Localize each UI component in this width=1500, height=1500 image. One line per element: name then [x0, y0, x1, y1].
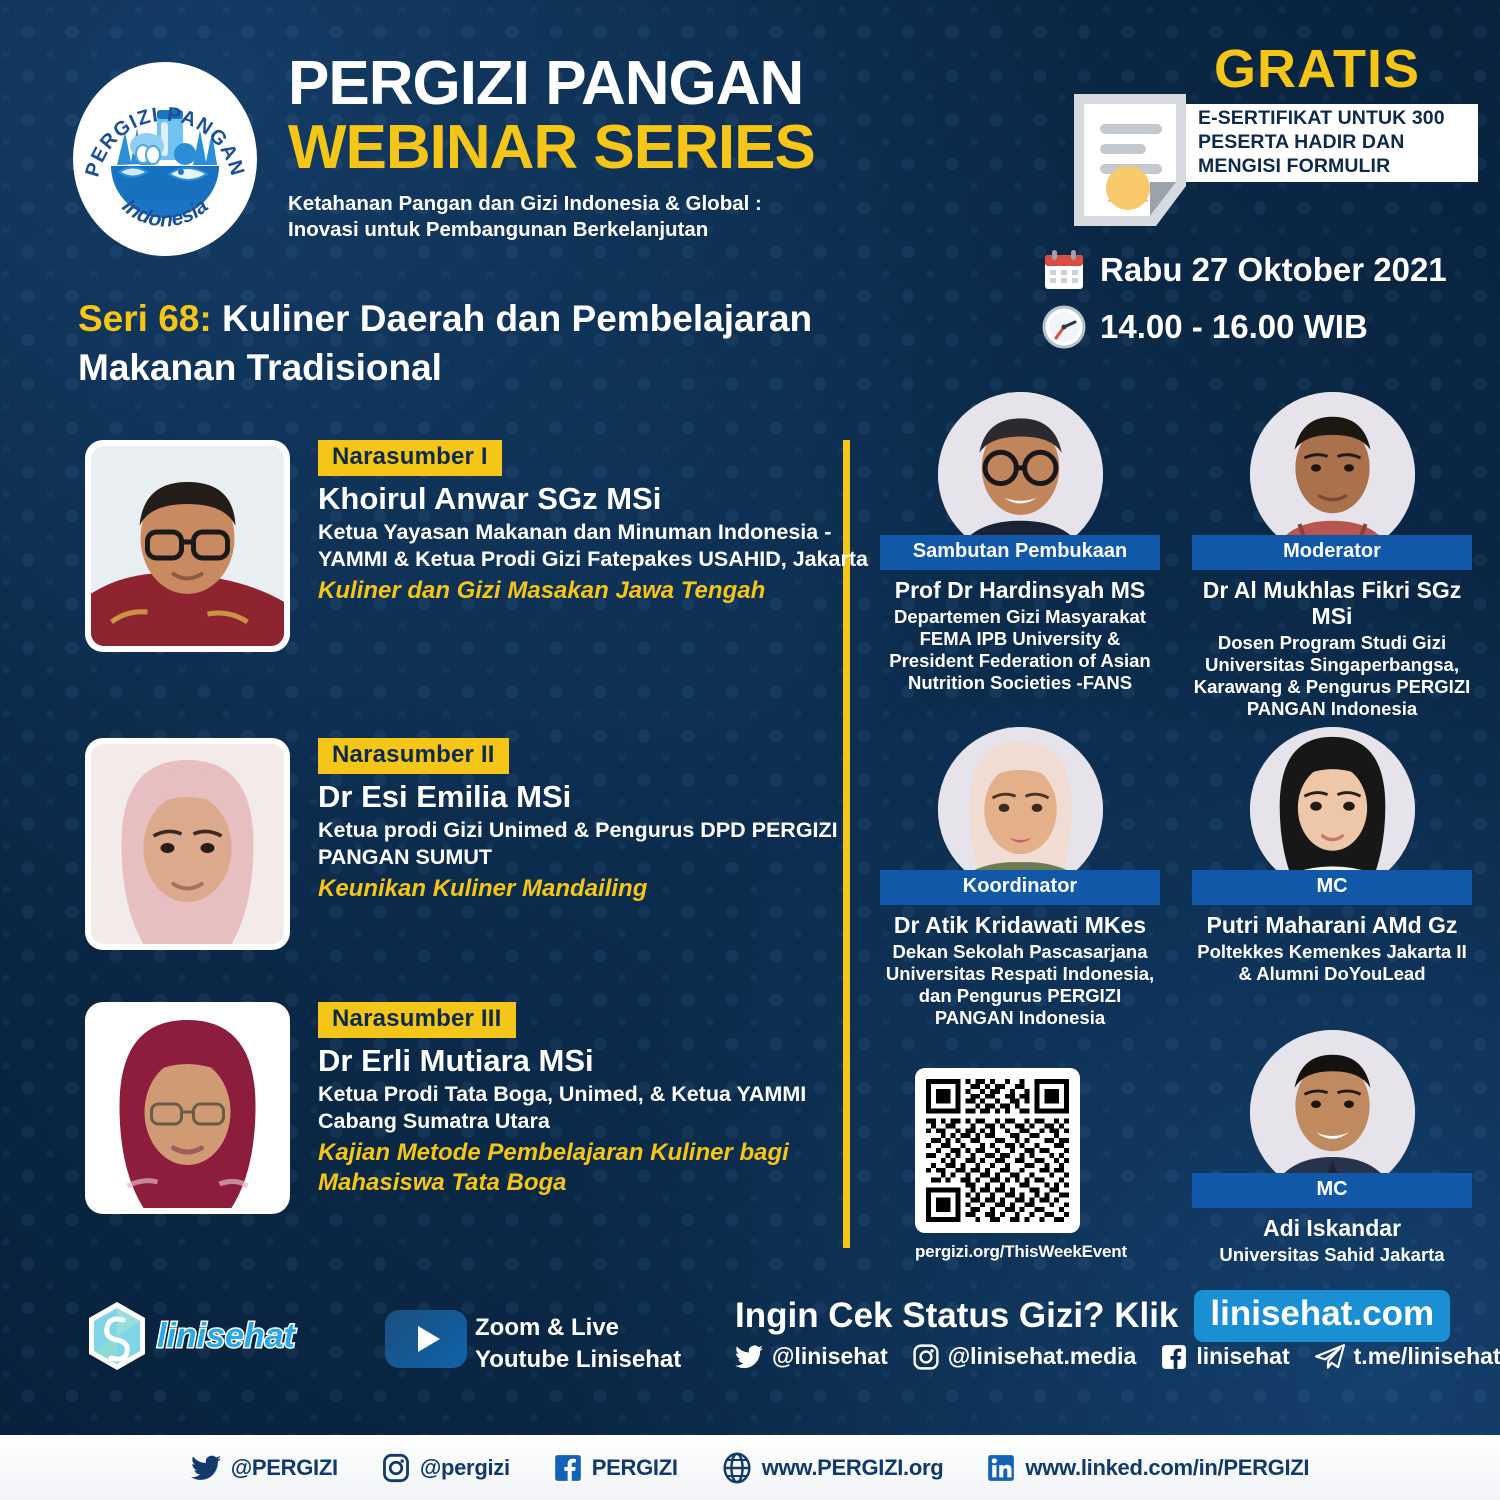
social-handle: linisehat [1196, 1343, 1289, 1370]
linisehat-logo: linisehat [85, 1300, 295, 1372]
linkedin-icon [987, 1454, 1015, 1482]
instagram-icon [913, 1344, 939, 1370]
linisehat-wordmark: linisehat [157, 1317, 295, 1356]
avatar [1250, 1030, 1415, 1195]
play-icon[interactable] [385, 1310, 467, 1368]
event-time-text: 14.00 - 16.00 WIB [1100, 308, 1368, 346]
series-number: Seri 68: [78, 298, 212, 339]
avatar [85, 738, 290, 950]
cta-block: Ingin Cek Status Gizi? Klik linisehat.co… [735, 1290, 1450, 1342]
speaker-topic: Kuliner dan Gizi Masakan Jawa Tengah [318, 576, 888, 606]
calendar-icon [1042, 248, 1086, 292]
speaker-affiliation: Ketua prodi Gizi Unimed & Pengurus DPD P… [318, 817, 888, 871]
avatar [938, 392, 1103, 557]
linisehat-link-button[interactable]: linisehat.com [1194, 1290, 1450, 1342]
speaker-name: Dr Esi Emilia MSi [318, 780, 888, 815]
role-card: MC Adi Iskandar Universitas Sahid Jakart… [1192, 1030, 1472, 1266]
role-badge: Moderator [1192, 535, 1472, 570]
role-description: Universitas Sahid Jakarta [1192, 1244, 1472, 1266]
role-description: Poltekkes Kemenkes Jakarta II & Alumni D… [1192, 941, 1472, 985]
tagline-line-2: Inovasi untuk Pembangunan Berkelanjutan [288, 217, 908, 243]
title-line-2: WEBINAR SERIES [288, 116, 908, 180]
footer-label: @PERGIZI [231, 1455, 338, 1481]
speaker-affiliation: Ketua Prodi Tata Boga, Unimed, & Ketua Y… [318, 1081, 888, 1135]
footer-label: www.PERGIZI.org [762, 1455, 944, 1481]
pergizi-pangan-logo: PERGIZI PANGAN Indonesia [73, 62, 257, 256]
role-badge: MC [1192, 870, 1472, 905]
event-time: 14.00 - 16.00 WIB [1042, 305, 1368, 349]
avatar [938, 727, 1103, 892]
social-handle: @linisehat [772, 1343, 888, 1370]
qr-block[interactable]: pergizi.org/ThisWeekEvent [915, 1068, 1127, 1262]
social-facebook[interactable]: linisehat [1161, 1343, 1289, 1370]
footer-website[interactable]: www.PERGIZI.org [722, 1452, 944, 1484]
speaker-name: Dr Erli Mutiara MSi [318, 1044, 888, 1079]
tagline-line-1: Ketahanan Pangan dan Gizi Indonesia & Gl… [288, 191, 908, 217]
social-handle: t.me/linisehat [1354, 1343, 1500, 1370]
qr-code-icon[interactable] [915, 1068, 1080, 1233]
role-name: Adi Iskandar [1192, 1216, 1472, 1242]
speaker-card: Narasumber III Dr Erli Mutiara MSi Ketua… [85, 1002, 895, 1232]
role-description: Departemen Gizi Masyarakat FEMA IPB Univ… [880, 606, 1160, 695]
instagram-icon [382, 1453, 410, 1483]
globe-icon [722, 1452, 752, 1484]
series-title: Seri 68: Kuliner Daerah dan Pembelajaran… [78, 295, 908, 393]
avatar [85, 440, 290, 652]
role-name: Prof Dr Hardinsyah MS [880, 578, 1160, 604]
footer-label: @pergizi [420, 1455, 510, 1481]
title-line-1: PERGIZI PANGAN [288, 52, 908, 116]
footer-label: www.linked.com/in/PERGIZI [1025, 1455, 1309, 1481]
broadcast-info: Zoom & Live Youtube Linisehat [475, 1312, 681, 1376]
footer-facebook[interactable]: PERGIZI [554, 1454, 678, 1482]
event-date: Rabu 27 Oktober 2021 [1042, 248, 1447, 292]
speaker-card: Narasumber I Khoirul Anwar SGz MSi Ketua… [85, 440, 895, 670]
speaker-affiliation: Ketua Yayasan Makanan dan Minuman Indone… [318, 519, 888, 573]
speaker-name: Khoirul Anwar SGz MSi [318, 482, 888, 517]
role-card: Koordinator Dr Atik Kridawati MKes Dekan… [880, 727, 1160, 1030]
certificate-text: E-SERTIFIKAT UNTUK 300 PESERTA HADIR DAN… [1198, 107, 1478, 178]
social-instagram[interactable]: @linisehat.media [913, 1343, 1137, 1370]
role-badge: Sambutan Pembukaan [880, 535, 1160, 570]
footer-label: PERGIZI [592, 1455, 678, 1481]
footer-twitter[interactable]: @PERGIZI [191, 1455, 338, 1481]
social-twitter[interactable]: @linisehat [735, 1343, 888, 1370]
avatar [1250, 392, 1415, 557]
qr-caption: pergizi.org/ThisWeekEvent [915, 1242, 1127, 1262]
speaker-badge: Narasumber II [318, 738, 509, 774]
footer-instagram[interactable]: @pergizi [382, 1453, 510, 1483]
speaker-badge: Narasumber III [318, 1002, 516, 1038]
role-name: Putri Maharani AMd Gz [1192, 913, 1472, 939]
linisehat-social-row: @linisehat @linisehat.media linisehat t.… [735, 1343, 1500, 1370]
speaker-topic: Keunikan Kuliner Mandailing [318, 874, 888, 904]
speaker-badge: Narasumber I [318, 440, 502, 476]
footer-bar: @PERGIZI @pergizi PERGIZI [0, 1435, 1500, 1500]
role-name: Dr Atik Kridawati MKes [880, 913, 1160, 939]
role-description: Dekan Sekolah Pascasarjana Universitas R… [880, 941, 1160, 1030]
role-card: Sambutan Pembukaan Prof Dr Hardinsyah MS… [880, 392, 1160, 695]
poster-title-block: PERGIZI PANGAN WEBINAR SERIES Ketahanan … [288, 52, 908, 243]
telegram-icon [1315, 1344, 1345, 1370]
gratis-label: GRATIS [1214, 38, 1420, 100]
facebook-icon [1161, 1344, 1187, 1370]
broadcast-line-2: Youtube Linisehat [475, 1344, 681, 1376]
broadcast-line-1: Zoom & Live [475, 1312, 681, 1344]
speaker-topic: Kajian Metode Pembelajaran Kuliner bagi … [318, 1138, 888, 1198]
avatar [85, 1002, 290, 1214]
role-description: Dosen Program Studi Gizi Universitas Sin… [1192, 632, 1472, 721]
facebook-icon [554, 1454, 582, 1482]
role-badge: Koordinator [880, 870, 1160, 905]
social-telegram[interactable]: t.me/linisehat [1315, 1343, 1500, 1370]
certificate-banner: E-SERTIFIKAT UNTUK 300 PESERTA HADIR DAN… [1186, 104, 1478, 182]
twitter-icon [191, 1455, 221, 1481]
cta-question: Ingin Cek Status Gizi? Klik [735, 1296, 1178, 1336]
avatar [1250, 727, 1415, 892]
role-card: MC Putri Maharani AMd Gz Poltekkes Kemen… [1192, 727, 1472, 985]
social-handle: @linisehat.media [948, 1343, 1137, 1370]
linisehat-mark-icon [85, 1300, 149, 1372]
clock-icon [1042, 305, 1086, 349]
footer-linkedin[interactable]: www.linked.com/in/PERGIZI [987, 1454, 1309, 1482]
certificate-icon [1070, 90, 1190, 230]
speaker-card: Narasumber II Dr Esi Emilia MSi Ketua pr… [85, 738, 895, 958]
role-badge: MC [1192, 1173, 1472, 1208]
event-date-text: Rabu 27 Oktober 2021 [1100, 251, 1447, 289]
twitter-icon [735, 1345, 763, 1369]
role-card: Moderator Dr Al Mukhlas Fikri SGz MSi Do… [1192, 392, 1472, 720]
role-name: Dr Al Mukhlas Fikri SGz MSi [1192, 578, 1472, 630]
